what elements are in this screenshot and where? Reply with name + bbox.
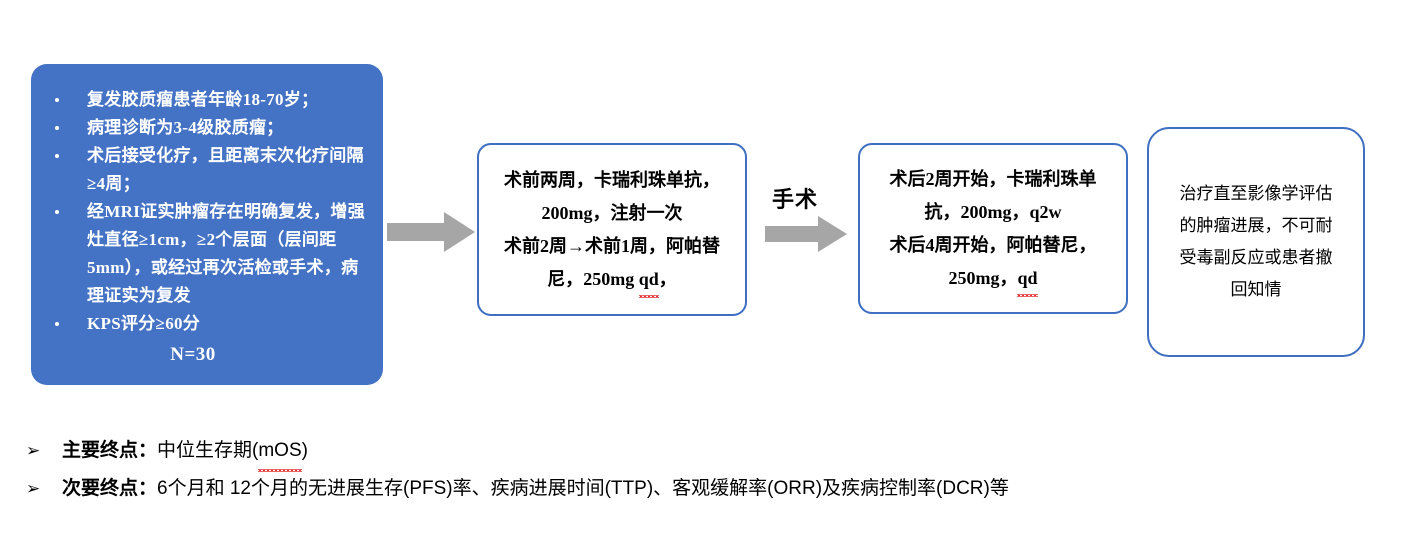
followup-line: 受毒副反应或患者撤 [1180,242,1333,274]
bullet-dot-icon [55,154,59,158]
sample-size-label: N=30 [45,344,369,366]
secondary-endpoint-row: ➢ 次要终点： 6个月和 12个月的无进展生存(PFS)率、疾病进展时间(TTP… [26,470,1366,508]
postop-line: 术后2周开始，卡瑞利珠单 [890,163,1097,196]
preop-line: 200mg，注射一次 [542,197,683,230]
followup-criteria-box: 治疗直至影像学评估 的肿瘤进展，不可耐 受毒副反应或患者撤 回知情 [1147,127,1365,357]
preop-line: 术前2周→术前1周，阿帕替 [504,230,720,263]
postop-line-last: 250mg，qd [948,262,1037,295]
bullet-dot-icon [55,98,59,102]
eligibility-criteria-list: 复发胶质瘤患者年龄18-70岁； 病理诊断为3-4级胶质瘤； 术后接受化疗，且距… [45,86,369,338]
arrow-bullet-icon: ➢ [26,432,62,470]
list-item: 术后接受化疗，且距离末次化疗间隔≥4周； [45,142,369,198]
list-item: 病理诊断为3-4级胶质瘤； [45,114,369,142]
primary-endpoint-acronym: mOS [258,432,301,470]
bullet-dot-icon [55,210,59,214]
list-item: 复发胶质瘤患者年龄18-70岁； [45,86,369,114]
primary-endpoint-label: 主要终点： [62,432,157,470]
preop-dose-frequency: qd [639,263,659,296]
preop-line-last: 尼，250mg qd， [547,263,677,296]
primary-endpoint-prefix: 中位生存期( [157,440,258,461]
criterion-text: 复发胶质瘤患者年龄18-70岁； [87,90,318,109]
bullet-dot-icon [55,322,59,326]
followup-line: 治疗直至影像学评估 [1180,178,1333,210]
eligibility-criteria-box: 复发胶质瘤患者年龄18-70岁； 病理诊断为3-4级胶质瘤； 术后接受化疗，且距… [31,64,383,385]
postop-line: 术后4周开始，阿帕替尼， [890,229,1097,262]
preop-treatment-box: 术前两周，卡瑞利珠单抗， 200mg，注射一次 术前2周→术前1周，阿帕替 尼，… [477,143,747,316]
secondary-endpoint-label: 次要终点： [62,470,157,508]
bullet-dot-icon [55,126,59,130]
primary-endpoint-value: 中位生存期(mOS) [157,432,308,470]
criterion-text: 病理诊断为3-4级胶质瘤； [87,118,284,137]
list-item: 经MRI证实肿瘤存在明确复发，增强灶直径≥1cm，≥2个层面（层间距5mm），或… [45,198,369,310]
preop-dose-suffix: ， [659,269,677,289]
preop-dose-prefix: 尼，250mg [547,269,639,289]
followup-line: 的肿瘤进展，不可耐 [1180,210,1333,242]
secondary-endpoint-value: 6个月和 12个月的无进展生存(PFS)率、疾病进展时间(TTP)、客观缓解率(… [157,470,1009,508]
list-item: KPS评分≥60分 [45,310,369,338]
postop-dose-frequency: qd [1017,262,1037,295]
primary-endpoint-suffix: ) [302,440,308,461]
endpoints-section: ➢ 主要终点： 中位生存期(mOS) ➢ 次要终点： 6个月和 12个月的无进展… [26,432,1366,508]
postop-dose-prefix: 250mg， [948,268,1017,288]
postop-line: 抗，200mg，q2w [924,196,1061,229]
flow-arrow-icon [765,216,847,257]
flow-arrow-icon [387,212,475,257]
surgery-step-label: 手术 [772,182,818,214]
criterion-text: 术后接受化疗，且距离末次化疗间隔≥4周； [87,146,364,193]
followup-line: 回知情 [1231,274,1282,306]
primary-endpoint-row: ➢ 主要终点： 中位生存期(mOS) [26,432,1366,470]
arrow-bullet-icon: ➢ [26,470,62,508]
preop-line: 术前两周，卡瑞利珠单抗， [504,164,720,197]
criterion-text: 经MRI证实肿瘤存在明确复发，增强灶直径≥1cm，≥2个层面（层间距5mm），或… [87,202,365,305]
criterion-text: KPS评分≥60分 [87,314,200,333]
postop-treatment-box: 术后2周开始，卡瑞利珠单 抗，200mg，q2w 术后4周开始，阿帕替尼， 25… [858,143,1128,314]
